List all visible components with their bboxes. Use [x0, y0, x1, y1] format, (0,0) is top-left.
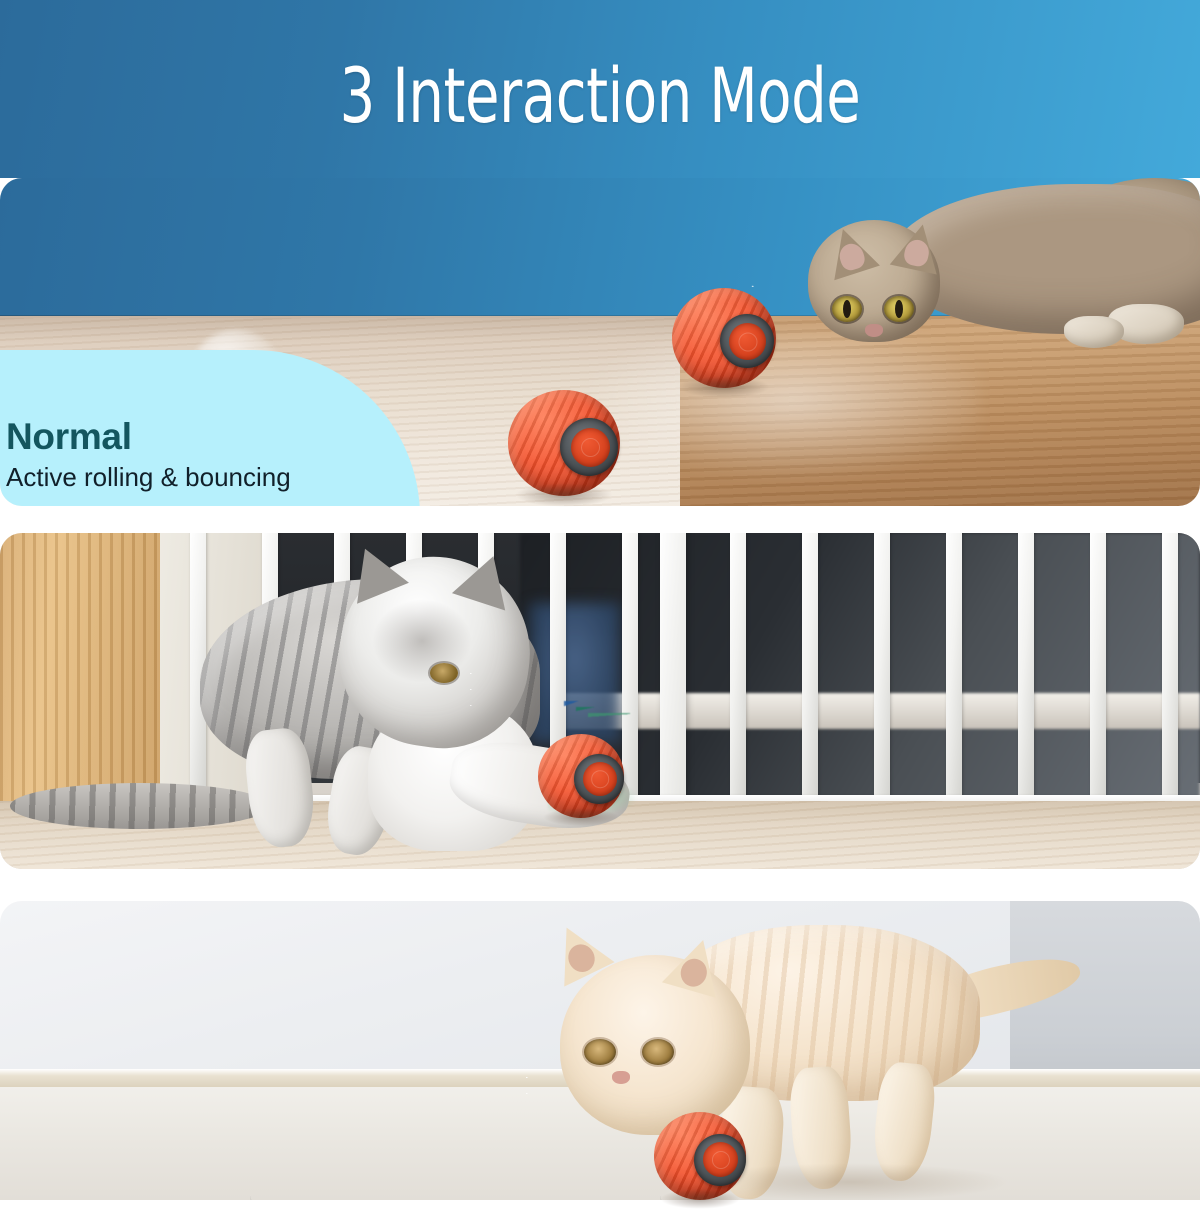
- cat-ear-right: [890, 220, 947, 275]
- wooden-door: [0, 533, 160, 825]
- cat-cream-kitten: [520, 911, 1040, 1200]
- ball-cap: [703, 1142, 738, 1177]
- cat-eye-left: [584, 1039, 616, 1065]
- ball-shadow: [678, 376, 770, 398]
- gate-bar: [1090, 533, 1106, 797]
- ball-cap: [571, 428, 610, 467]
- product-infographic: 3 Interaction Mode: [0, 0, 1200, 1200]
- mode-title-normal: Normal: [6, 418, 420, 457]
- gate-bar: [946, 533, 962, 797]
- ball-shadow: [660, 1189, 741, 1208]
- header-banner: 3 Interaction Mode: [0, 0, 1200, 178]
- mode-desc-normal: Active rolling & bouncing: [6, 462, 420, 494]
- gate-bar: [874, 533, 890, 797]
- gate-bar: [802, 533, 818, 797]
- gate-frame-post: [660, 533, 686, 817]
- ball-shadow: [515, 483, 614, 506]
- cat-whiskers: [526, 1069, 696, 1119]
- cat-paw-second: [1064, 316, 1124, 348]
- scene-gentle-photo: [0, 901, 1200, 1200]
- ball-cap: [583, 762, 617, 796]
- gate-bar: [730, 533, 746, 797]
- page-title: 3 Interaction Mode: [108, 50, 1092, 142]
- cat-tabby-lying: [790, 184, 1200, 374]
- cat-ball-toy: [672, 288, 776, 388]
- cat-ball-toy: [538, 734, 624, 818]
- cat-ball-toy: [508, 390, 620, 496]
- mode-panel-gentle: Gentle slow rolling, or shaking on conta…: [0, 901, 1200, 1200]
- ball-cap: [729, 323, 766, 360]
- cat-eye-right: [642, 1039, 674, 1065]
- cat-ball-toy: [654, 1112, 746, 1200]
- cat-eye: [430, 663, 458, 683]
- gate-bar: [1018, 533, 1034, 797]
- gate-bar: [1162, 533, 1178, 797]
- cat-ear-left: [820, 222, 880, 281]
- cat-tail: [10, 783, 270, 829]
